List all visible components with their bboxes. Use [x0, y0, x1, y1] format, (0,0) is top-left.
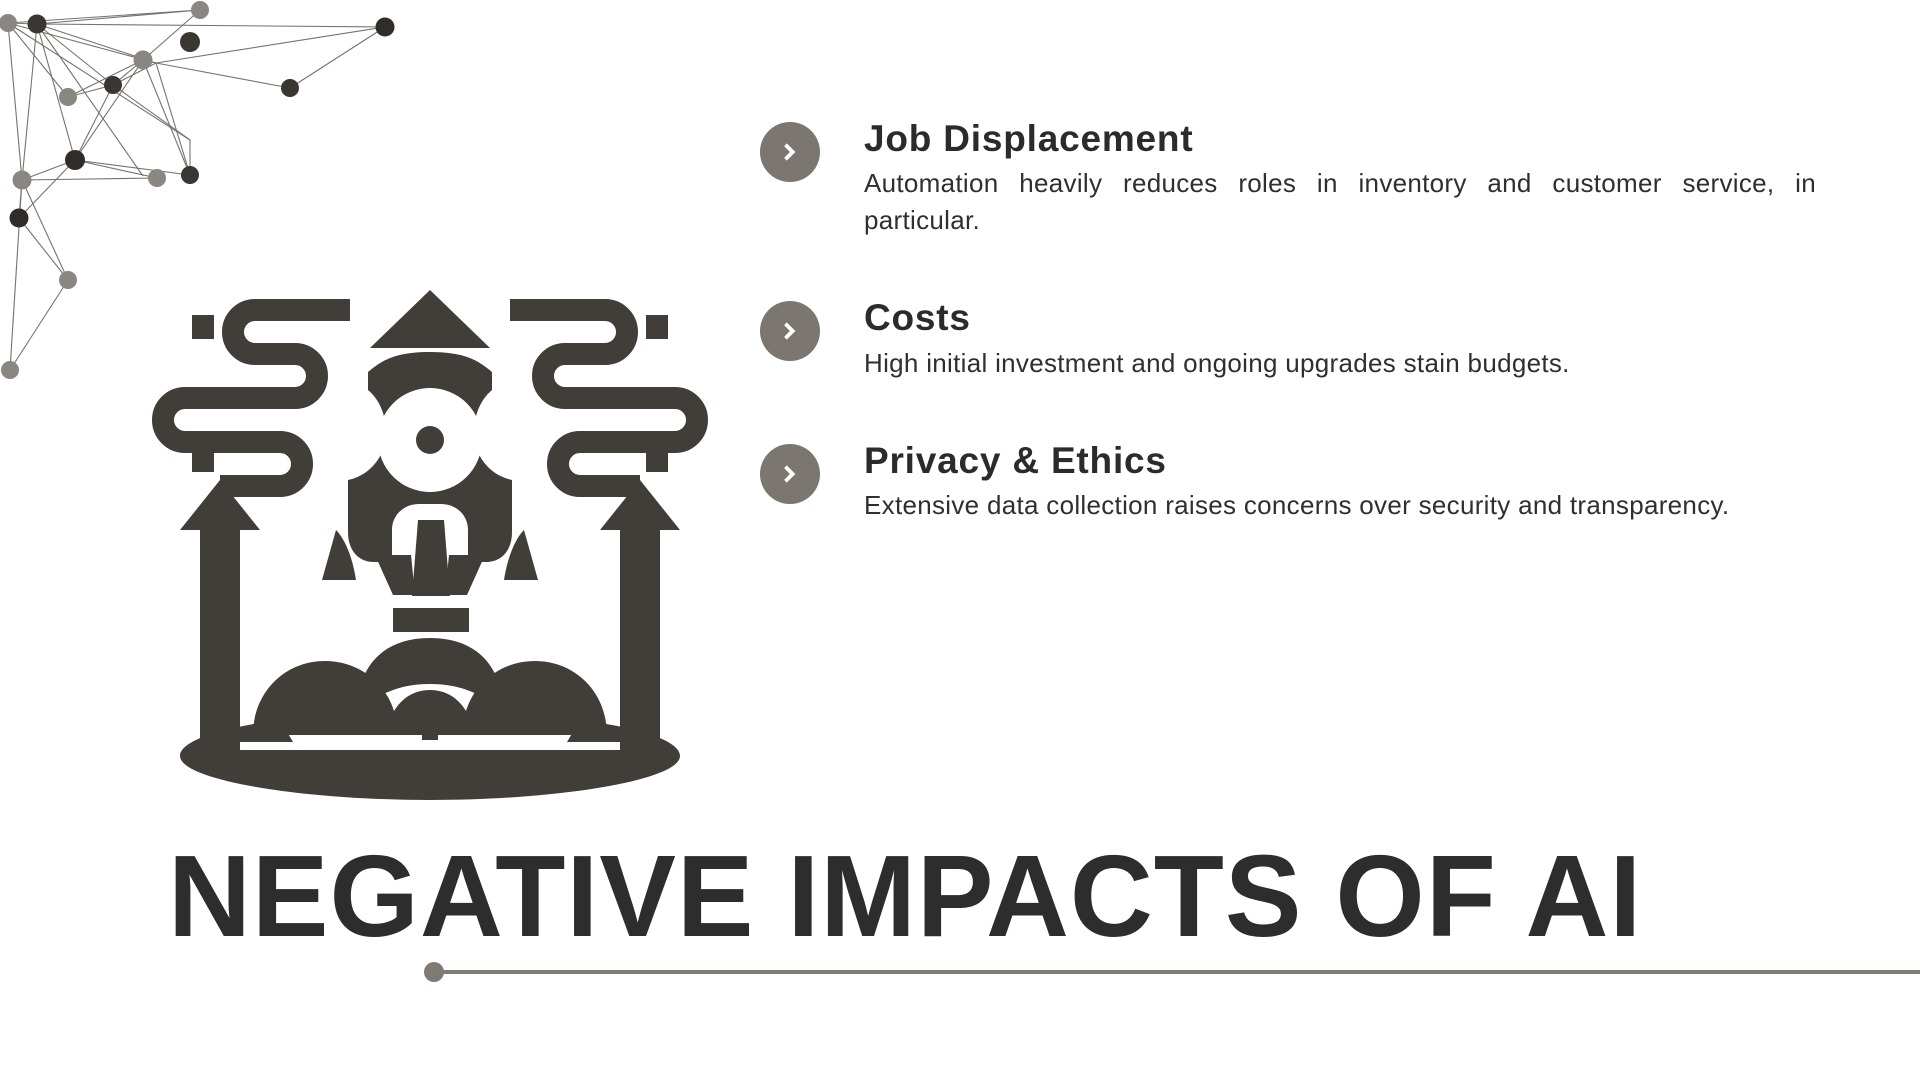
- bottom-rule: [436, 970, 1920, 974]
- chevron-right-icon[interactable]: [760, 122, 820, 182]
- list-item-description: Automation heavily reduces roles in inve…: [864, 165, 1816, 239]
- list-item-description: High initial investment and ongoing upgr…: [864, 345, 1816, 382]
- page-title: NEGATIVE IMPACTS OF AI: [168, 838, 1642, 954]
- rocket-launch-icon: [150, 280, 710, 800]
- slide-canvas: Job Displacement Automation heavily redu…: [0, 0, 1920, 1080]
- list-item-title: Privacy & Ethics: [864, 440, 1820, 481]
- impacts-list: Job Displacement Automation heavily redu…: [760, 118, 1820, 524]
- list-item-description: Extensive data collection raises concern…: [864, 487, 1816, 524]
- chevron-right-icon[interactable]: [760, 301, 820, 361]
- list-item-title: Job Displacement: [864, 118, 1820, 159]
- list-item-title: Costs: [864, 297, 1820, 338]
- list-item: Costs High initial investment and ongoin…: [760, 297, 1820, 381]
- list-item: Job Displacement Automation heavily redu…: [760, 118, 1820, 239]
- chevron-right-icon[interactable]: [760, 444, 820, 504]
- list-item: Privacy & Ethics Extensive data collecti…: [760, 440, 1820, 524]
